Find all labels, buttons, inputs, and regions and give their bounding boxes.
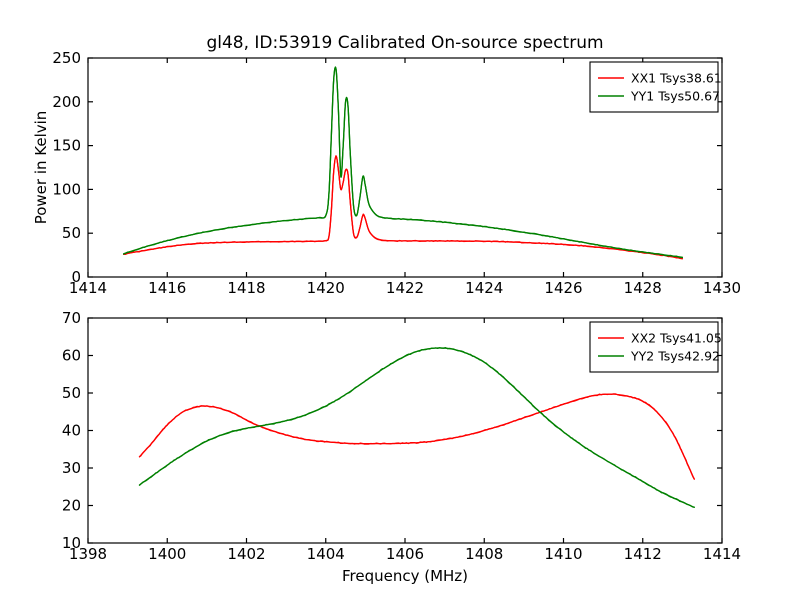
- legend: XX1 Tsys38.61YY1 Tsys50.67: [590, 62, 722, 112]
- legend-label-yy: YY2 Tsys42.92: [630, 349, 720, 364]
- x-tick-label: 1404: [307, 545, 345, 563]
- x-axis-label: Frequency (MHz): [342, 567, 468, 585]
- legend-box: [590, 322, 718, 372]
- y-tick-label: 40: [62, 422, 81, 440]
- legend-label-yy: YY1 Tsys50.67: [630, 89, 720, 104]
- figure-canvas: 1414141614181420142214241426142814300501…: [0, 0, 800, 600]
- x-tick-label: 1412: [624, 545, 662, 563]
- y-tick-label: 30: [62, 459, 81, 477]
- y-tick-label: 50: [62, 384, 81, 402]
- x-tick-label: 1406: [386, 545, 424, 563]
- x-tick-label: 1414: [703, 545, 741, 563]
- x-tick-label: 1424: [465, 279, 503, 297]
- x-tick-label: 1416: [148, 279, 186, 297]
- x-tick-label: 1418: [227, 279, 265, 297]
- series-noise-xx: [140, 394, 695, 479]
- y-tick-label: 250: [52, 49, 81, 67]
- spectrum-figure: 1414141614181420142214241426142814300501…: [0, 0, 800, 600]
- top-panel: 1414141614181420142214241426142814300501…: [32, 33, 741, 297]
- y-tick-label: 60: [62, 347, 81, 365]
- x-tick-label: 1422: [386, 279, 424, 297]
- x-tick-label: 1428: [624, 279, 662, 297]
- series-line-xx: [140, 394, 695, 479]
- y-tick-label: 150: [52, 137, 81, 155]
- plot-title: gl48, ID:53919 Calibrated On-source spec…: [206, 33, 603, 53]
- series-noise-xx: [124, 156, 683, 259]
- bottom-panel: 1398140014021404140614081410141214141020…: [62, 309, 741, 585]
- y-tick-label: 200: [52, 93, 81, 111]
- legend: XX2 Tsys41.05YY2 Tsys42.92: [590, 322, 722, 372]
- y-tick-label: 50: [62, 224, 81, 242]
- x-tick-label: 1426: [544, 279, 582, 297]
- x-tick-label: 1420: [307, 279, 345, 297]
- x-tick-label: 1402: [227, 545, 265, 563]
- y-tick-label: 20: [62, 497, 81, 515]
- x-tick-label: 1410: [544, 545, 582, 563]
- legend-label-xx: XX1 Tsys38.61: [631, 71, 722, 86]
- legend-label-xx: XX2 Tsys41.05: [631, 331, 722, 346]
- legend-box: [590, 62, 718, 112]
- y-axis-label: Power in Kelvin: [32, 111, 50, 225]
- y-tick-label: 70: [62, 309, 81, 327]
- x-tick-label: 1408: [465, 545, 503, 563]
- y-tick-label: 10: [62, 534, 81, 552]
- y-tick-label: 0: [71, 268, 81, 286]
- x-tick-label: 1430: [703, 279, 741, 297]
- y-tick-label: 100: [52, 180, 81, 198]
- x-tick-label: 1400: [148, 545, 186, 563]
